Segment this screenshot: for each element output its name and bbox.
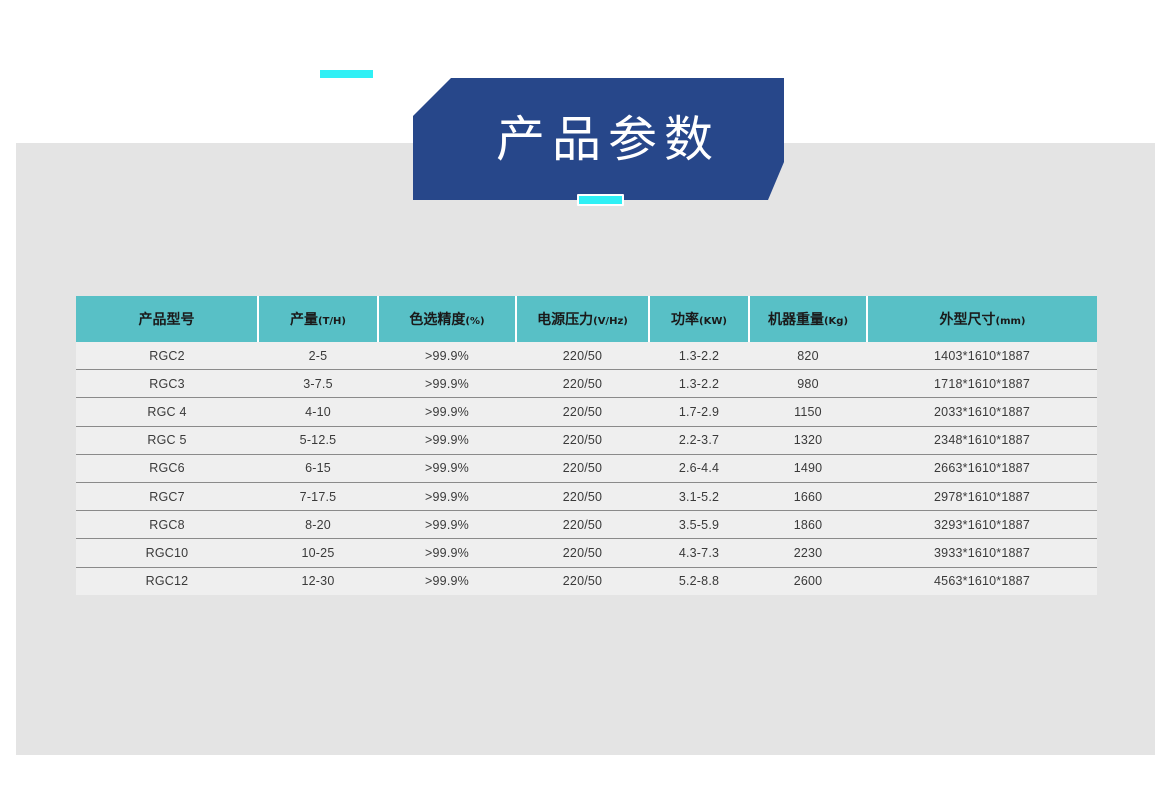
cell-r4-c3: 220/50 xyxy=(516,454,649,482)
cell-r3-c2: >99.9% xyxy=(378,426,516,454)
cell-r5-c0: RGC7 xyxy=(76,482,258,510)
column-header-unit: (%) xyxy=(465,316,484,327)
column-header-label: 色选精度 xyxy=(409,312,465,328)
cell-r5-c6: 2978*1610*1887 xyxy=(867,482,1097,510)
cell-r2-c0: RGC 4 xyxy=(76,398,258,426)
cell-r0-c6: 1403*1610*1887 xyxy=(867,342,1097,370)
cell-r6-c5: 1860 xyxy=(749,511,867,539)
accent-bar-bottom-icon xyxy=(577,194,624,206)
accent-bar-top-icon xyxy=(318,68,375,80)
cell-r7-c5: 2230 xyxy=(749,539,867,567)
cell-r0-c3: 220/50 xyxy=(516,342,649,370)
cell-r5-c3: 220/50 xyxy=(516,482,649,510)
table-row: RGC66-15>99.9%220/502.6-4.414902663*1610… xyxy=(76,454,1097,482)
page-title: 产品参数 xyxy=(413,78,784,200)
cell-r7-c2: >99.9% xyxy=(378,539,516,567)
cell-r6-c2: >99.9% xyxy=(378,511,516,539)
cell-r1-c5: 980 xyxy=(749,370,867,398)
cell-r1-c2: >99.9% xyxy=(378,370,516,398)
table-bottom-pad xyxy=(76,588,1097,593)
cell-r6-c6: 3293*1610*1887 xyxy=(867,511,1097,539)
table-row: RGC77-17.5>99.9%220/503.1-5.216602978*16… xyxy=(76,482,1097,510)
cell-r2-c2: >99.9% xyxy=(378,398,516,426)
table-header-row: 产品型号产量(T/H)色选精度(%)电源压力(V/Hz)功率(KW)机器重量(K… xyxy=(76,296,1097,342)
cell-r3-c4: 2.2-3.7 xyxy=(649,426,749,454)
cell-r2-c1: 4-10 xyxy=(258,398,378,426)
cell-r5-c5: 1660 xyxy=(749,482,867,510)
cell-r3-c6: 2348*1610*1887 xyxy=(867,426,1097,454)
cell-r1-c3: 220/50 xyxy=(516,370,649,398)
page-title-banner: 产品参数 xyxy=(413,78,784,200)
cell-r1-c1: 3-7.5 xyxy=(258,370,378,398)
cell-r7-c3: 220/50 xyxy=(516,539,649,567)
cell-r7-c1: 10-25 xyxy=(258,539,378,567)
column-header-2: 色选精度(%) xyxy=(378,296,516,342)
table-row: RGC 44-10>99.9%220/501.7-2.911502033*161… xyxy=(76,398,1097,426)
table-row: RGC 55-12.5>99.9%220/502.2-3.713202348*1… xyxy=(76,426,1097,454)
column-header-label: 功率 xyxy=(671,312,699,328)
cell-r3-c5: 1320 xyxy=(749,426,867,454)
cell-r6-c0: RGC8 xyxy=(76,511,258,539)
column-header-unit: (mm) xyxy=(996,316,1026,327)
cell-r2-c3: 220/50 xyxy=(516,398,649,426)
cell-r2-c4: 1.7-2.9 xyxy=(649,398,749,426)
cell-r1-c4: 1.3-2.2 xyxy=(649,370,749,398)
cell-r4-c0: RGC6 xyxy=(76,454,258,482)
table-body: RGC22-5>99.9%220/501.3-2.28201403*1610*1… xyxy=(76,342,1097,595)
product-parameters-table: 产品型号产量(T/H)色选精度(%)电源压力(V/Hz)功率(KW)机器重量(K… xyxy=(76,296,1097,595)
cell-r3-c1: 5-12.5 xyxy=(258,426,378,454)
cell-r7-c4: 4.3-7.3 xyxy=(649,539,749,567)
cell-r0-c4: 1.3-2.2 xyxy=(649,342,749,370)
cell-r2-c5: 1150 xyxy=(749,398,867,426)
cell-r1-c6: 1718*1610*1887 xyxy=(867,370,1097,398)
cell-r5-c4: 3.1-5.2 xyxy=(649,482,749,510)
cell-r6-c4: 3.5-5.9 xyxy=(649,511,749,539)
column-header-6: 外型尺寸(mm) xyxy=(867,296,1097,342)
cell-r5-c2: >99.9% xyxy=(378,482,516,510)
column-header-label: 外型尺寸 xyxy=(940,312,996,328)
column-header-label: 机器重量 xyxy=(768,312,824,328)
column-header-1: 产量(T/H) xyxy=(258,296,378,342)
cell-r0-c0: RGC2 xyxy=(76,342,258,370)
cell-r4-c2: >99.9% xyxy=(378,454,516,482)
cell-r2-c6: 2033*1610*1887 xyxy=(867,398,1097,426)
cell-r0-c2: >99.9% xyxy=(378,342,516,370)
column-header-label: 产量 xyxy=(290,312,318,328)
table-head: 产品型号产量(T/H)色选精度(%)电源压力(V/Hz)功率(KW)机器重量(K… xyxy=(76,296,1097,342)
cell-r0-c1: 2-5 xyxy=(258,342,378,370)
column-header-4: 功率(KW) xyxy=(649,296,749,342)
cell-r4-c1: 6-15 xyxy=(258,454,378,482)
column-header-0: 产品型号 xyxy=(76,296,258,342)
cell-r7-c0: RGC10 xyxy=(76,539,258,567)
cell-r7-c6: 3933*1610*1887 xyxy=(867,539,1097,567)
table-row: RGC1010-25>99.9%220/504.3-7.322303933*16… xyxy=(76,539,1097,567)
column-header-label: 产品型号 xyxy=(139,312,195,328)
column-header-unit: (V/Hz) xyxy=(593,316,628,327)
cell-r4-c6: 2663*1610*1887 xyxy=(867,454,1097,482)
table-row: RGC22-5>99.9%220/501.3-2.28201403*1610*1… xyxy=(76,342,1097,370)
table-row: RGC33-7.5>99.9%220/501.3-2.29801718*1610… xyxy=(76,370,1097,398)
cell-r1-c0: RGC3 xyxy=(76,370,258,398)
cell-r4-c4: 2.6-4.4 xyxy=(649,454,749,482)
cell-r5-c1: 7-17.5 xyxy=(258,482,378,510)
cell-r4-c5: 1490 xyxy=(749,454,867,482)
cell-r3-c0: RGC 5 xyxy=(76,426,258,454)
column-header-5: 机器重量(Kg) xyxy=(749,296,867,342)
cell-r6-c3: 220/50 xyxy=(516,511,649,539)
cell-r3-c3: 220/50 xyxy=(516,426,649,454)
column-header-label: 电源压力 xyxy=(537,312,593,328)
column-header-unit: (Kg) xyxy=(824,316,848,327)
column-header-unit: (T/H) xyxy=(318,316,346,327)
table-row: RGC88-20>99.9%220/503.5-5.918603293*1610… xyxy=(76,511,1097,539)
cell-r6-c1: 8-20 xyxy=(258,511,378,539)
cell-r0-c5: 820 xyxy=(749,342,867,370)
column-header-unit: (KW) xyxy=(699,316,727,327)
column-header-3: 电源压力(V/Hz) xyxy=(516,296,649,342)
